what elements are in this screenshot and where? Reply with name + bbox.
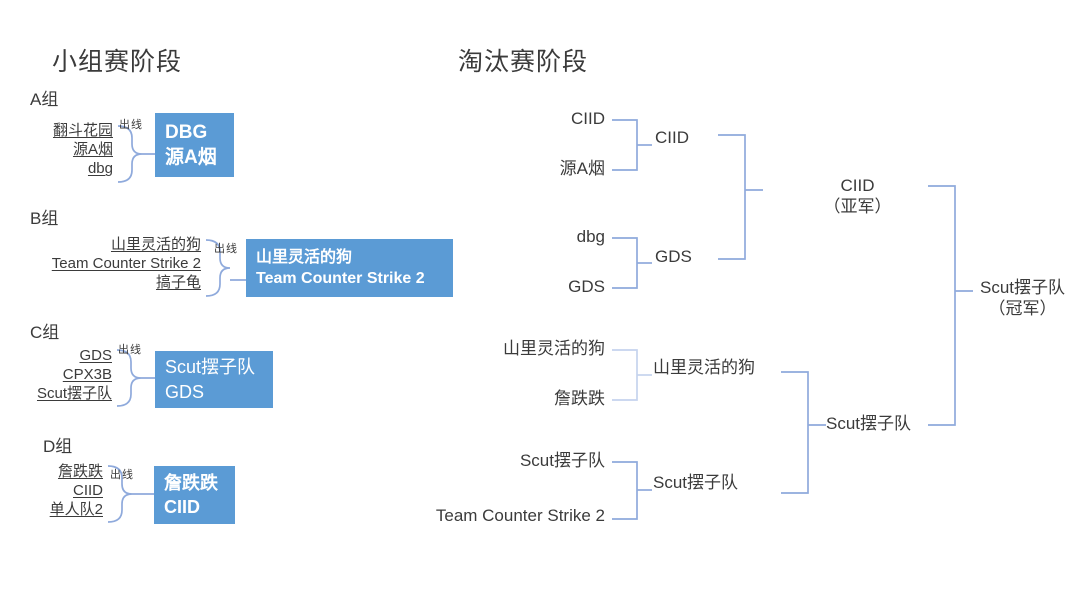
group-d-qualify-label: 出线 — [110, 466, 134, 482]
group-d-team-1: 詹跌跌 — [0, 462, 103, 481]
group-c-title: C组 — [30, 318, 59, 343]
sf1-winner-name: CIID — [795, 176, 920, 197]
group-d-team-2: CIID — [0, 481, 103, 500]
qf1-winner: CIID — [655, 128, 689, 149]
group-a-qualifier-box: DBG 源A烟 — [155, 113, 234, 177]
qf2-winner: GDS — [655, 247, 692, 268]
group-a-qualify-label: 出线 — [119, 116, 143, 132]
sf1-winner: CIID （亚军） — [795, 176, 920, 217]
group-d-team-3: 单人队2 — [0, 500, 103, 519]
qf2-team-a: dbg — [440, 227, 605, 248]
sf1-winner-subtitle: （亚军） — [795, 197, 920, 218]
group-b-qualify-label: 出线 — [214, 240, 238, 256]
group-d-qualifier-box: 詹跌跌 CIID — [154, 466, 235, 524]
group-b-team-1: 山里灵活的狗 — [0, 235, 201, 254]
bracket-canvas: 小组赛阶段 A组 翻斗花园 源A烟 dbg 出线 DBG 源A烟 B组 山里灵活… — [0, 0, 1080, 596]
qf4-team-b: Team Counter Strike 2 — [380, 506, 605, 527]
group-c-team-1: GDS — [0, 346, 112, 365]
qf2-team-b: GDS — [440, 277, 605, 298]
group-c-qualifier-1: Scut摆子队 — [165, 355, 263, 379]
group-c-team-2: CPX3B — [0, 365, 112, 384]
qf1-team-a: CIID — [440, 109, 605, 130]
group-b-team-3: 搞子龟 — [0, 273, 201, 292]
group-b-qualifier-box: 山里灵活的狗 Team Counter Strike 2 — [246, 239, 453, 297]
group-a-team-1: 翻斗花园 — [0, 121, 113, 140]
group-a-team-list: 翻斗花园 源A烟 dbg — [0, 121, 113, 179]
final-champion: Scut摆子队 （冠军） — [965, 278, 1080, 319]
group-b-title: B组 — [30, 204, 58, 229]
group-a-qualifier-2: 源A烟 — [165, 145, 224, 170]
group-a-title: A组 — [30, 85, 58, 110]
group-c-team-list: GDS CPX3B Scut摆子队 — [0, 346, 112, 404]
group-a-team-3: dbg — [0, 159, 113, 178]
qf3-team-a: 山里灵活的狗 — [420, 339, 605, 360]
group-a-qualifier-1: DBG — [165, 120, 224, 145]
group-b-team-list: 山里灵活的狗 Team Counter Strike 2 搞子龟 — [0, 235, 201, 293]
qf3-team-b: 詹跌跌 — [420, 389, 605, 410]
qf4-winner: Scut摆子队 — [653, 473, 738, 494]
group-d-qualifier-1: 詹跌跌 — [164, 471, 225, 495]
final-champion-name: Scut摆子队 — [965, 278, 1080, 299]
group-b-team-2: Team Counter Strike 2 — [0, 254, 201, 273]
qf3-winner: 山里灵活的狗 — [653, 358, 755, 379]
group-c-qualify-label: 出线 — [118, 341, 142, 357]
group-c-team-3: Scut摆子队 — [0, 384, 112, 403]
knockout-stage-title: 淘汰赛阶段 — [458, 42, 588, 78]
group-d-qualifier-2: CIID — [164, 495, 225, 519]
group-c-qualifier-2: GDS — [165, 380, 263, 404]
group-b-qualifier-1: 山里灵活的狗 — [256, 247, 443, 268]
group-c-qualifier-box: Scut摆子队 GDS — [155, 351, 273, 408]
final-champion-subtitle: （冠军） — [965, 299, 1080, 320]
group-b-qualifier-2: Team Counter Strike 2 — [256, 268, 443, 289]
group-d-title: D组 — [43, 432, 72, 457]
sf2-winner: Scut摆子队 — [826, 414, 911, 435]
group-a-team-2: 源A烟 — [0, 140, 113, 159]
group-d-team-list: 詹跌跌 CIID 单人队2 — [0, 462, 103, 520]
qf1-team-b: 源A烟 — [440, 159, 605, 180]
group-stage-title: 小组赛阶段 — [52, 42, 182, 78]
qf4-team-a: Scut摆子队 — [380, 451, 605, 472]
